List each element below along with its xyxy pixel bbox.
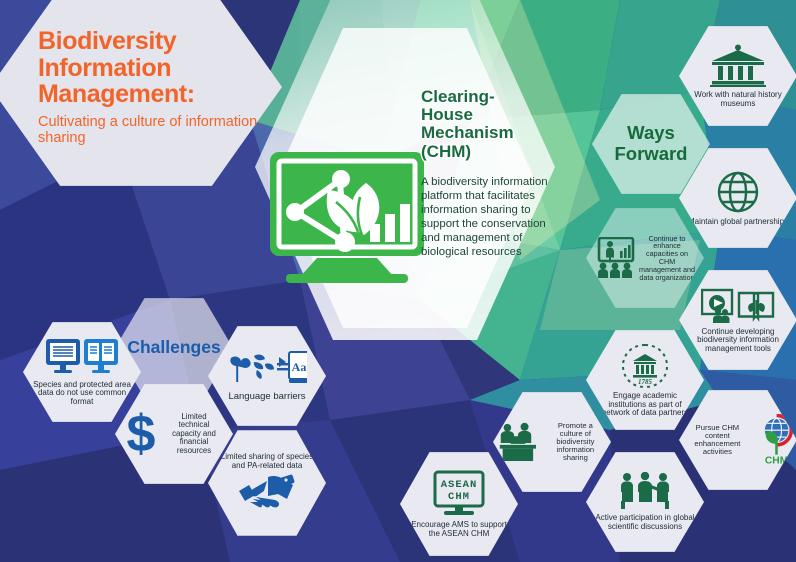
chm-heading: Clearing- House Mechanism (CHM) — [421, 88, 551, 161]
title-line-1: Biodiversity — [38, 28, 278, 55]
three-people-meeting-icon — [615, 472, 675, 510]
chm-heading-line-4: (CHM) — [421, 143, 551, 161]
globe-grid-icon — [716, 170, 760, 214]
way-item-participation-label: Active participation in global scientifi… — [586, 514, 704, 531]
chm-heading-line-2: House — [421, 106, 551, 124]
asean-chm-monitor-icon: ASEAN CHM — [431, 470, 487, 518]
challenge-item-language-label: Language barriers — [220, 392, 313, 402]
infographic-canvas: Biodiversity Information Management: Cul… — [0, 0, 796, 562]
two-people-desk-icon — [496, 421, 540, 463]
museum-building-icon — [709, 43, 767, 87]
handshake-icon — [237, 473, 297, 513]
dollar-sign-icon: $ — [124, 407, 158, 461]
title-line-3: Management: — [38, 81, 278, 108]
chm-heading-line-1: Clearing- — [421, 88, 551, 106]
ways-forward-line-2: Forward — [615, 144, 688, 165]
way-item-tools-label: Continue developing biodiversity informa… — [679, 328, 796, 354]
page-title: Biodiversity Information Management: Cul… — [38, 28, 278, 147]
challenges-heading: Challenges — [127, 338, 220, 357]
title-line-2: Information — [38, 55, 278, 82]
way-item-chm-content-label: Pursue CHM content enhancement activitie… — [679, 424, 756, 457]
title-subtitle: Cultivating a culture of information sha… — [38, 114, 278, 147]
way-item-capacities-label: Continue to enhance capacities on CHM ma… — [636, 235, 698, 282]
laurel-academy-icon: 1785 — [619, 342, 671, 390]
species-dictionary-icon: Aa — [227, 350, 307, 386]
trainer-presentation-icon — [594, 237, 636, 279]
asean-screen-line-1: ASEAN — [441, 479, 478, 491]
chm-heading-line-3: Mechanism — [421, 124, 551, 142]
challenge-item-sharing-label: Limited sharing of species and PA-relate… — [208, 453, 326, 470]
svg-text:$: $ — [127, 407, 156, 461]
monitor-leaf-chart-icon — [262, 150, 432, 285]
way-item-promote-culture-label: Promote a culture of biodiversity inform… — [540, 422, 611, 463]
asean-screen-line-2: CHM — [448, 491, 470, 503]
academy-year-badge: 1785 — [638, 378, 653, 386]
svg-text:Aa: Aa — [292, 360, 307, 374]
challenge-item-capacity-label: Limited technical capacity and financial… — [158, 413, 230, 455]
chm-description: A biodiversity information platform that… — [421, 176, 549, 259]
media-book-icon — [701, 287, 775, 325]
way-item-partnerships-label: Maintain global partnerships — [680, 218, 796, 227]
ways-forward-line-1: Ways — [627, 123, 675, 144]
two-monitors-icon — [45, 338, 119, 378]
